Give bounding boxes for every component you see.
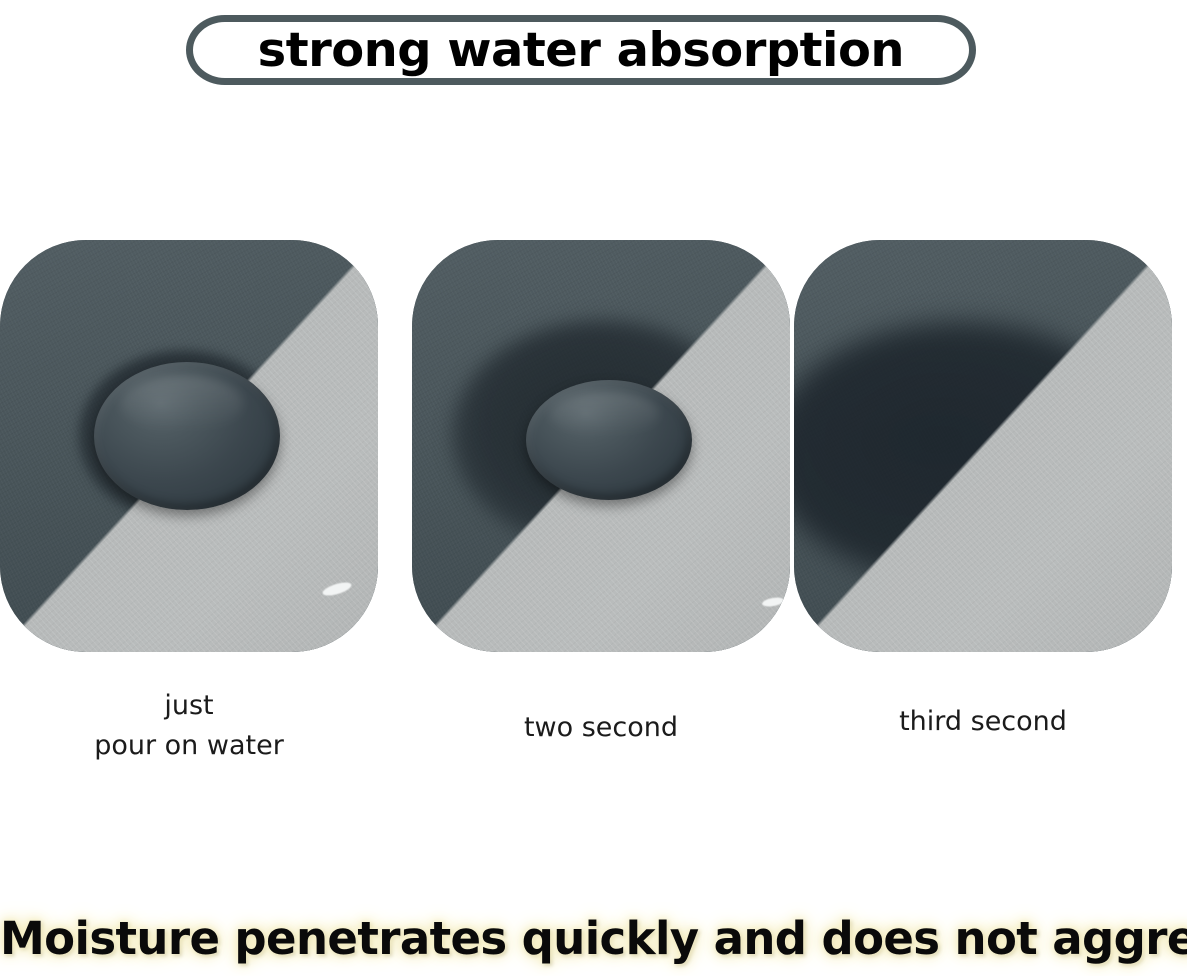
water-droplet [94, 362, 280, 510]
panel-captions: just pour on water two second third seco… [0, 686, 1187, 796]
caption-line: pour on water [0, 726, 378, 766]
caption-line: two second [412, 708, 790, 748]
mat-accent-strip [794, 240, 1172, 652]
caption-just-pour: just pour on water [0, 686, 378, 766]
product-image-panel-two-second [412, 240, 790, 652]
footer-headline: Moisture penetrates quickly and does not… [0, 912, 1187, 965]
caption-line: just [0, 686, 378, 726]
water-droplet [526, 380, 692, 500]
caption-two-second: two second [412, 708, 790, 748]
product-image-panel-just-pour [0, 240, 378, 652]
caption-third-second: third second [794, 702, 1172, 742]
caption-line: third second [794, 702, 1172, 742]
product-image-panel-third-second [794, 240, 1172, 652]
absorption-sequence-panels [0, 240, 1187, 652]
page-title: strong water absorption [258, 27, 904, 74]
title-badge: strong water absorption [186, 15, 976, 85]
